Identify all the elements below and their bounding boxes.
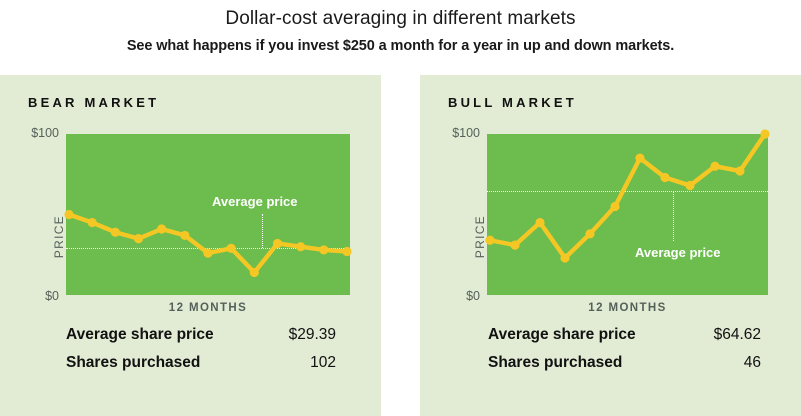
bear-shares-label: Shares purchased (66, 354, 200, 372)
bull-y-tick-top: $100 (452, 126, 480, 140)
bull-x-axis-label: 12 MONTHS (487, 302, 768, 314)
bear-y-axis-label: PRICE (52, 215, 66, 258)
infographic-header: Dollar-cost averaging in different marke… (0, 0, 801, 75)
bull-stats: Average share price $64.62 Shares purcha… (420, 326, 801, 382)
bear-stat-row-shares: Shares purchased 102 (0, 354, 381, 382)
bull-shares-label: Shares purchased (488, 354, 622, 372)
bull-y-axis-label: PRICE (473, 215, 487, 258)
page-title: Dollar-cost averaging in different marke… (0, 8, 801, 30)
panel-title-bear: BEAR MARKET (28, 95, 159, 110)
bear-y-tick-bottom: $0 (45, 289, 59, 303)
bear-stat-row-avg-price: Average share price $29.39 (0, 326, 381, 354)
bull-avg-price-value: $64.62 (665, 326, 761, 344)
bull-price-series (487, 134, 768, 295)
bull-y-tick-bottom: $0 (466, 289, 480, 303)
bull-shares-value: 46 (665, 354, 761, 372)
bear-avg-price-label: Average share price (66, 326, 214, 344)
bear-shares-value: 102 (240, 354, 336, 372)
bear-x-axis-label: 12 MONTHS (66, 302, 350, 314)
page-subtitle: See what happens if you invest $250 a mo… (0, 38, 801, 54)
bull-market-chart: $100 $0 PRICE 12 MONTHS Average price (487, 134, 768, 295)
bear-y-tick-top: $100 (31, 126, 59, 140)
bull-stat-row-avg-price: Average share price $64.62 (420, 326, 801, 354)
bear-market-chart: $100 $0 PRICE 12 MONTHS Average price (66, 134, 350, 295)
panel-bear-market: BEAR MARKET $100 $0 PRICE 12 MONTHS Aver… (0, 75, 381, 416)
panel-bull-market: BULL MARKET $100 $0 PRICE 12 MONTHS Aver… (420, 75, 801, 416)
bear-stats: Average share price $29.39 Shares purcha… (0, 326, 381, 382)
bull-avg-price-label: Average share price (488, 326, 636, 344)
bear-avg-price-value: $29.39 (240, 326, 336, 344)
bull-stat-row-shares: Shares purchased 46 (420, 354, 801, 382)
bear-price-series (66, 134, 350, 295)
panel-title-bull: BULL MARKET (448, 95, 577, 110)
